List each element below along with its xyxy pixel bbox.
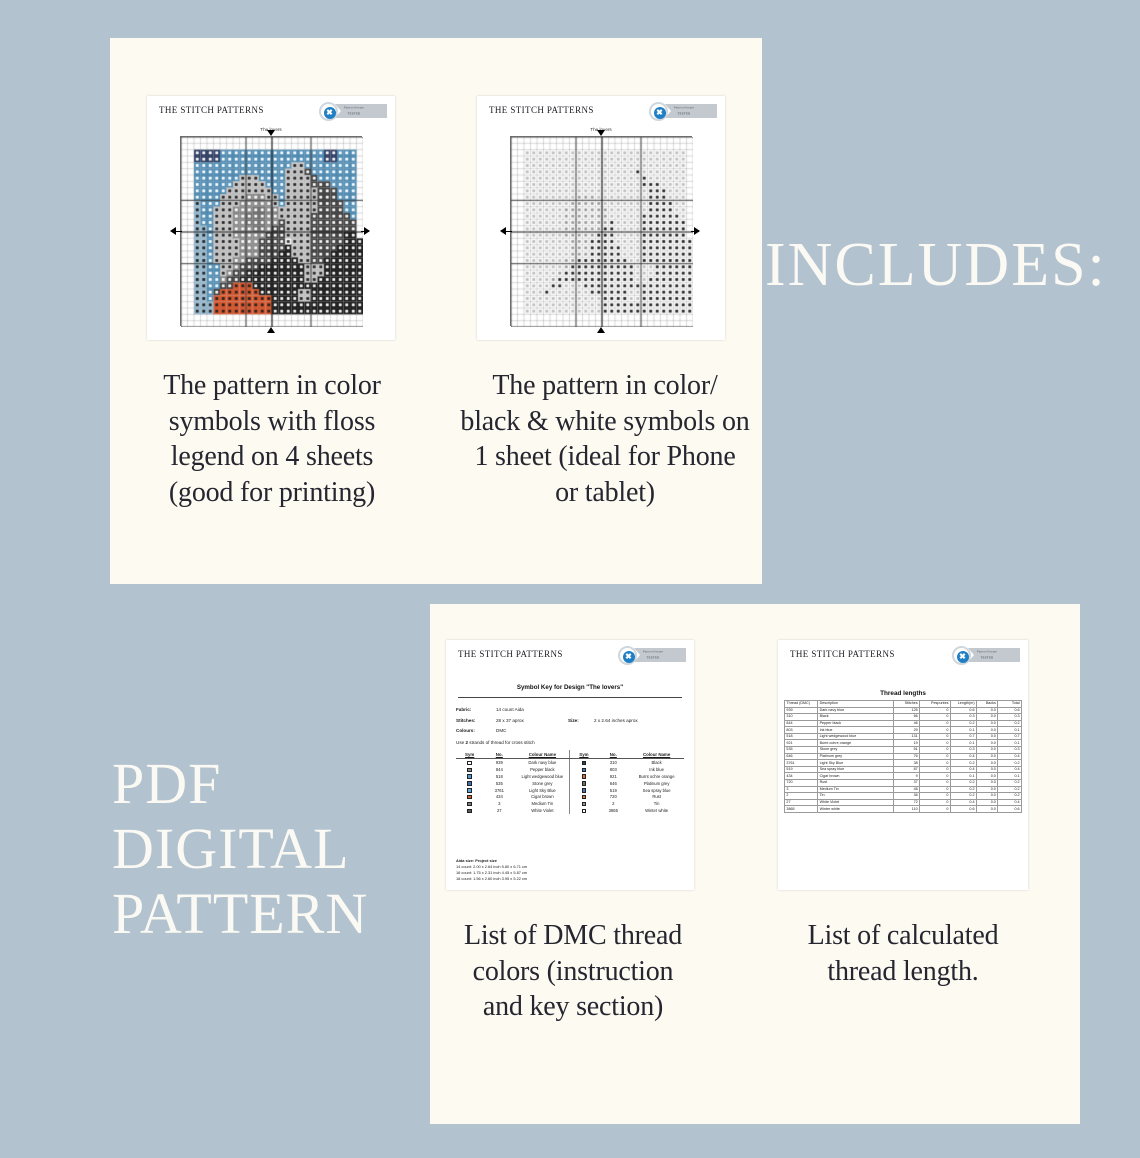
key-field-label: Stitches: [456,718,496,723]
pespuntes-count: 0 [920,773,951,780]
swatch-icon [467,788,471,792]
thread-number: 803 [785,727,818,734]
total-meters: 0.7 [998,733,1022,740]
sheet-brand-title: THE STITCH PATTERNS [458,649,563,659]
stitches-count: 125 [894,707,920,714]
stitches-count: 110 [894,806,920,813]
table-row: 939Dark navy blue12500.60.00.6 [785,707,1022,714]
backs-count: 0.0 [976,733,997,740]
table-row: 519Sea spray blue8700.40.00.4 [785,766,1022,773]
colour-name: Medium Tin [515,800,570,807]
x-seal-icon: ✖ [618,646,637,665]
colour-name: Light wedgewood blue [515,773,570,780]
thread-number: 803 [597,766,629,773]
column-header: Total [998,701,1022,708]
length-meters: 0.4 [950,753,976,760]
backs-count: 0.0 [976,793,997,800]
badge-line-1: Pattern Keeper [974,650,1000,653]
length-meters: 0.6 [950,806,976,813]
table-row: 535Stone grey5100.30.00.3 [785,747,1022,754]
table-row: 27White Violet7200.40.00.4 [785,799,1022,806]
total-meters: 0.6 [998,707,1022,714]
total-meters: 0.3 [998,747,1022,754]
length-meters: 0.1 [950,740,976,747]
colour-name: Tin [629,800,684,807]
table-row: 921Burnt ochre orange1900.10.00.1 [785,740,1022,747]
stitches-count: 38 [894,760,920,767]
pattern-keeper-tested-badge: Pattern Keeper TESTED ✖ [319,102,387,121]
backs-count: 0.0 [976,766,997,773]
total-meters: 0.2 [998,786,1022,793]
chart-canvas-bw [511,137,693,327]
thread-lengths-table: Thread (DMC)DescriptionStitchesPespuntes… [784,700,1022,813]
length-meters: 0.3 [950,714,976,721]
thread-number: 310 [785,714,818,721]
symbol-key-table: SymNo.Colour NameSymNo.Colour Name 939Da… [456,750,684,814]
total-meters: 0.2 [998,793,1022,800]
total-meters: 0.1 [998,773,1022,780]
table-body: 939Dark navy blue12500.60.00.6310Black66… [785,707,1022,812]
total-meters: 0.2 [998,760,1022,767]
key-field-value: DMC [496,728,568,733]
key-field-label: Fabric: [456,707,496,712]
thread-number: 844 [483,766,515,773]
stitches-count: 131 [894,733,920,740]
table-row: 3Medium Tin2Tin [456,800,684,807]
key-field-value: 28 x 37 aprox [496,718,568,723]
colour-name: Burnt ochre orange [629,773,684,780]
pespuntes-count: 0 [920,707,951,714]
colour-name: Stone grey [515,780,570,787]
key-field-value2: 2 x 2.64 inches aprox [594,718,638,723]
swatch-icon [467,768,471,772]
backs-count: 0.0 [976,747,997,754]
length-meters: 0.7 [950,733,976,740]
thread-description: Dark navy blue [818,707,894,714]
swatch-icon [582,768,586,772]
key-field-row: Fabric:14 count Aida [456,707,684,712]
thread-number: 3 [785,786,818,793]
thread-number: 3761 [785,760,818,767]
swatch-icon [582,802,586,806]
key-field-row: Stitches:28 x 37 aproxSize:2 x 2.64 inch… [456,718,684,723]
colour-name: Rust [629,793,684,800]
swatch-icon [467,774,471,778]
axis-line-left [504,231,512,232]
badge-line-2: TESTED [640,656,666,659]
thread-description: White Violet [818,799,894,806]
table-row: 310Black6600.30.00.3 [785,714,1022,721]
backs-count: 0.0 [976,740,997,747]
caption-bw-symbols: The pattern in color/ black & white symb… [460,368,750,510]
table-row: 27White Violet3865Winter white [456,807,684,814]
key-field-row: Colours:DMC [456,728,684,733]
thread-number: 434 [483,793,515,800]
thread-number: 518 [785,733,818,740]
backs-count: 0.0 [976,753,997,760]
symbol-key-title: Symbol Key for Design "The lovers" [456,684,684,691]
column-header: Colour Name [629,750,684,759]
table-body: 939Dark navy blue310Black844Pepper black… [456,759,684,814]
strand-note-post: strands of thread for cross stitch [468,740,535,745]
key-field-label2 [568,707,594,712]
stitches-count: 37 [894,779,920,786]
table-row: 844Pepper black4600.20.00.2 [785,720,1022,727]
color-swatch-symbol [456,787,483,794]
pespuntes-count: 0 [920,806,951,813]
swatch-icon [467,802,471,806]
thread-number: 27 [785,799,818,806]
key-field-value: 14 count Aida [496,707,568,712]
chart-area: The lovers [477,126,725,340]
color-swatch-symbol [570,793,597,800]
stitches-count: 36 [894,793,920,800]
table-row: 720Rust3700.20.00.2 [785,779,1022,786]
color-swatch-symbol [456,766,483,773]
thread-description: Medium Tin [818,786,894,793]
stitches-count: 76 [894,753,920,760]
color-swatch-symbol [456,780,483,787]
total-meters: 0.2 [998,720,1022,727]
stitches-count: 51 [894,747,920,754]
length-meters: 0.2 [950,760,976,767]
caption-color-symbols: The pattern in color symbols with floss … [136,368,408,510]
column-header: Description [818,701,894,708]
swatch-icon [467,761,471,765]
pdf-heading-line-2: DIGITAL [112,817,368,882]
badge-line-1: Pattern Keeper [341,106,367,109]
backs-count: 0.0 [976,760,997,767]
column-header: No. [483,750,515,759]
thread-number: 720 [597,793,629,800]
backs-count: 0.0 [976,714,997,721]
thread-number: 27 [483,807,515,814]
colour-name: Winter white [629,807,684,814]
pespuntes-count: 0 [920,714,951,721]
thread-number: 3865 [785,806,818,813]
column-header: Colour Name [515,750,570,759]
pespuntes-count: 0 [920,779,951,786]
table-row: 3Medium Tin4800.20.00.2 [785,786,1022,793]
color-symbol-chart-sheet[interactable]: THE STITCH PATTERNS Pattern Keeper TESTE… [147,96,395,340]
color-swatch-symbol [456,773,483,780]
total-meters: 0.2 [998,779,1022,786]
color-swatch-symbol [456,793,483,800]
table-row: 434Cigar brown720Rust [456,793,684,800]
pespuntes-count: 0 [920,747,951,754]
chart-canvas-color [181,137,363,327]
column-header: No. [597,750,629,759]
center-tick-top [597,130,605,136]
table-row: 535Stone grey646Platinum grey [456,780,684,787]
color-swatch-symbol [570,766,597,773]
column-header: Stitches [894,701,920,708]
thread-number: 519 [785,766,818,773]
badge-line-2: TESTED [341,112,367,115]
aida-size-title: Aida size: Project size [456,858,497,863]
pespuntes-count: 0 [920,760,951,767]
caption-thread-length: List of calculated thread length. [770,918,1036,989]
key-field-label2: Size: [568,718,594,723]
sheet-header: THE STITCH PATTERNS Pattern Keeper TESTE… [778,640,1028,670]
backs-count: 0.0 [976,707,997,714]
divider [458,697,682,698]
thread-description: Platinum grey [818,753,894,760]
pdf-heading-line-1: PDF [112,752,368,817]
swatch-icon [582,761,586,765]
stitches-count: 9 [894,773,920,780]
table-row: 3761Light Sky Blue3800.20.00.2 [785,760,1022,767]
badge-line-1: Pattern Keeper [640,650,666,653]
swatch-icon [467,781,471,785]
aida-size-line: 18 count: 1.56 x 2.60 inch 3.95 x 5.22 c… [456,876,527,882]
axis-line-right [691,231,699,232]
thread-number: 844 [785,720,818,727]
aida-size-lines: 14 count: 2.00 x 2.64 inch 5.80 x 6.71 c… [456,864,527,882]
sheet-header: THE STITCH PATTERNS Pattern Keeper TESTE… [477,96,725,126]
aida-size-block: Aida size: Project size 14 count: 2.00 x… [456,858,527,882]
pespuntes-count: 0 [920,766,951,773]
pdf-digital-pattern-heading: PDF DIGITAL PATTERN [112,752,368,947]
pattern-keeper-tested-badge: Pattern Keeper TESTED ✖ [952,646,1020,665]
colour-name: Sea spray blue [629,787,684,794]
symbol-key-sheet[interactable]: THE STITCH PATTERNS Pattern Keeper TESTE… [446,640,694,890]
backs-count: 0.0 [976,779,997,786]
colour-name: Platinum grey [629,780,684,787]
colour-name: Pepper black [515,766,570,773]
pespuntes-count: 0 [920,799,951,806]
table-row: 844Pepper black803Ink blue [456,766,684,773]
thread-number: 535 [785,747,818,754]
length-meters: 0.2 [950,720,976,727]
color-swatch-symbol [570,800,597,807]
length-meters: 0.4 [950,799,976,806]
length-meters: 0.6 [950,707,976,714]
table-header-row: Thread (DMC)DescriptionStitchesPespuntes… [785,701,1022,708]
stitches-count: 29 [894,727,920,734]
table-row: 3761Light Sky Blue519Sea spray blue [456,787,684,794]
thread-description: Burnt ochre orange [818,740,894,747]
color-swatch-symbol [456,800,483,807]
stitches-count: 66 [894,714,920,721]
colour-name: Ink blue [629,766,684,773]
bw-symbol-chart-sheet[interactable]: THE STITCH PATTERNS Pattern Keeper TESTE… [477,96,725,340]
table-row: 939Dark navy blue310Black [456,759,684,766]
pespuntes-count: 0 [920,753,951,760]
key-field-label: Colours: [456,728,496,733]
swatch-icon [467,809,471,813]
thread-description: Light Sky Blue [818,760,894,767]
thread-number: 2 [785,793,818,800]
sheet-brand-title: THE STITCH PATTERNS [489,105,594,115]
center-tick-bottom [267,327,275,333]
sheet-brand-title: THE STITCH PATTERNS [159,105,264,115]
pespuntes-count: 0 [920,786,951,793]
colour-name: Dark navy blue [515,759,570,766]
length-meters: 0.3 [950,747,976,754]
thread-number: 434 [785,773,818,780]
thread-description: Light wedgewood blue [818,733,894,740]
thread-number: 310 [597,759,629,766]
backs-count: 0.0 [976,773,997,780]
column-header: Sym [570,750,597,759]
cross-stitch-grid-bw [510,136,692,326]
thread-number: 646 [597,780,629,787]
column-header: Thread (DMC) [785,701,818,708]
aida-size-line: 14 count: 2.00 x 2.64 inch 5.80 x 6.71 c… [456,864,527,870]
thread-description: Black [818,714,894,721]
table-row: 434Cigar brown900.10.00.1 [785,773,1022,780]
thread-number: 3 [483,800,515,807]
colour-name: White Violet [515,807,570,814]
pespuntes-count: 0 [920,740,951,747]
length-meters: 0.1 [950,773,976,780]
color-swatch-symbol [456,759,483,766]
thread-lengths-sheet[interactable]: THE STITCH PATTERNS Pattern Keeper TESTE… [778,640,1028,890]
axis-line-left [174,231,182,232]
total-meters: 0.4 [998,753,1022,760]
table-row: 518Light wedgewood blue13100.70.00.7 [785,733,1022,740]
table-row: 3865Winter white11000.60.00.6 [785,806,1022,813]
pattern-keeper-tested-badge: Pattern Keeper TESTED ✖ [649,102,717,121]
table-row: 518Light wedgewood blue921Burnt ochre or… [456,773,684,780]
includes-heading: INCLUDES: [765,234,1107,296]
column-header: Sym [456,750,483,759]
backs-count: 0.0 [976,727,997,734]
thread-lengths-body: Thread lengths Thread (DMC)DescriptionSt… [784,690,1022,813]
pespuntes-count: 0 [920,727,951,734]
color-swatch-symbol [570,807,597,814]
thread-number: 646 [785,753,818,760]
thread-description: Sea spray blue [818,766,894,773]
table-row: 803Ink blue2900.10.00.1 [785,727,1022,734]
swatch-icon [467,795,471,799]
pespuntes-count: 0 [920,793,951,800]
length-meters: 0.1 [950,727,976,734]
caption-dmc-list: List of DMC thread colors (instruction a… [450,918,696,1025]
backs-count: 0.0 [976,799,997,806]
pattern-keeper-tested-badge: Pattern Keeper TESTED ✖ [618,646,686,665]
thread-description: Tin [818,793,894,800]
center-tick-bottom [597,327,605,333]
thread-description: Ink blue [818,727,894,734]
thread-number: 939 [785,707,818,714]
x-seal-icon: ✖ [319,102,338,121]
pespuntes-count: 0 [920,720,951,727]
thread-number: 535 [483,780,515,787]
axis-line-right [361,231,369,232]
swatch-icon [582,795,586,799]
stitches-count: 46 [894,720,920,727]
total-meters: 0.4 [998,799,1022,806]
strand-note: Use 2 strands of thread for cross stitch [456,740,684,745]
center-tick-top [267,130,275,136]
color-swatch-symbol [456,807,483,814]
color-swatch-symbol [570,773,597,780]
table-row: 646Platinum grey7600.40.00.4 [785,753,1022,760]
swatch-icon [582,774,586,778]
sheet-header: THE STITCH PATTERNS Pattern Keeper TESTE… [147,96,395,126]
thread-number: 519 [597,787,629,794]
total-meters: 0.3 [998,714,1022,721]
length-meters: 0.2 [950,779,976,786]
symbol-key-fields: Fabric:14 count AidaStitches:28 x 37 apr… [456,707,684,733]
thread-number: 720 [785,779,818,786]
total-meters: 0.6 [998,806,1022,813]
column-header: Length(m) [950,701,976,708]
table-header-row: SymNo.Colour NameSymNo.Colour Name [456,750,684,759]
x-seal-icon: ✖ [952,646,971,665]
chart-area: The lovers [147,126,395,340]
backs-count: 0.0 [976,786,997,793]
total-meters: 0.1 [998,740,1022,747]
length-meters: 0.2 [950,786,976,793]
thread-number: 518 [483,773,515,780]
thread-number: 939 [483,759,515,766]
color-swatch-symbol [570,759,597,766]
column-header: Backs [976,701,997,708]
backs-count: 0.0 [976,806,997,813]
poster-canvas: INCLUDES: PDF DIGITAL PATTERN THE STITCH… [0,0,1140,1158]
key-field-label2 [568,728,594,733]
stitches-count: 87 [894,766,920,773]
sheet-header: THE STITCH PATTERNS Pattern Keeper TESTE… [446,640,694,670]
color-swatch-symbol [570,780,597,787]
color-swatch-symbol [570,787,597,794]
column-header: Pespuntes [920,701,951,708]
table-row: 2Tin3600.20.00.2 [785,793,1022,800]
stitches-count: 19 [894,740,920,747]
length-meters: 0.2 [950,793,976,800]
total-meters: 0.4 [998,766,1022,773]
thread-number: 3865 [597,807,629,814]
cross-stitch-grid-color [180,136,362,326]
x-seal-icon: ✖ [649,102,668,121]
thread-number: 3761 [483,787,515,794]
pdf-heading-line-3: PATTERN [112,882,368,947]
colour-name: Light Sky Blue [515,787,570,794]
thread-lengths-title: Thread lengths [784,690,1022,697]
thread-description: Pepper black [818,720,894,727]
stitches-count: 72 [894,799,920,806]
length-meters: 0.4 [950,766,976,773]
pespuntes-count: 0 [920,733,951,740]
backs-count: 0.0 [976,720,997,727]
thread-number: 2 [597,800,629,807]
stitches-count: 48 [894,786,920,793]
thread-description: Rust [818,779,894,786]
thread-description: Winter white [818,806,894,813]
badge-line-2: TESTED [974,656,1000,659]
swatch-icon [582,809,586,813]
swatch-icon [582,781,586,785]
colour-name: Cigar brown [515,793,570,800]
thread-description: Stone grey [818,747,894,754]
swatch-icon [582,788,586,792]
thread-number: 921 [785,740,818,747]
colour-name: Black [629,759,684,766]
badge-line-2: TESTED [671,112,697,115]
thread-number: 921 [597,773,629,780]
thread-description: Cigar brown [818,773,894,780]
symbol-key-body: Symbol Key for Design "The lovers" Fabri… [446,670,694,814]
badge-line-1: Pattern Keeper [671,106,697,109]
sheet-brand-title: THE STITCH PATTERNS [790,649,895,659]
total-meters: 0.1 [998,727,1022,734]
